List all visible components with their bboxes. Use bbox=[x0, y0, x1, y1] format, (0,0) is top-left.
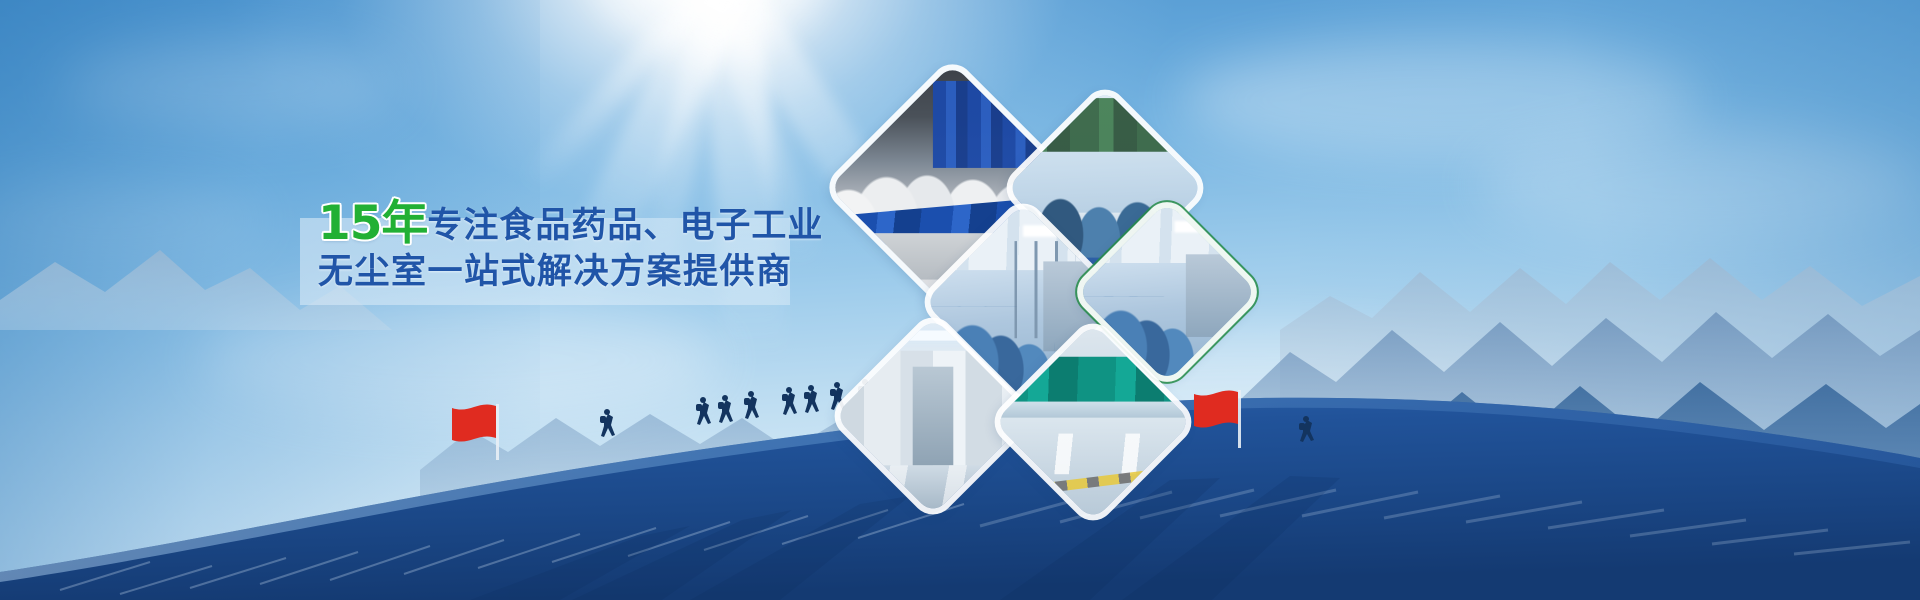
years-number: 15年 bbox=[318, 196, 427, 251]
climber-5 bbox=[782, 387, 797, 415]
climber-11 bbox=[1299, 416, 1314, 442]
headline-line-2: 无尘室一站式解决方案提供商 bbox=[318, 254, 788, 290]
headline-line-1: 15年专注食品药品、电子工业 bbox=[318, 200, 788, 248]
climber-6 bbox=[804, 385, 819, 413]
headline-text: 15年专注食品药品、电子工业 无尘室一站式解决方案提供商 bbox=[318, 200, 788, 290]
headline-line-1-text: 专注食品药品、电子工业 bbox=[427, 206, 823, 245]
climber-1 bbox=[600, 409, 615, 437]
climber-2 bbox=[696, 397, 711, 425]
hero-banner: 15年专注食品药品、电子工业 无尘室一站式解决方案提供商 bbox=[0, 0, 1920, 600]
climber-4 bbox=[744, 391, 759, 419]
photo-collage bbox=[835, 80, 1285, 480]
climber-3 bbox=[718, 395, 733, 423]
red-flag-left bbox=[452, 404, 499, 460]
